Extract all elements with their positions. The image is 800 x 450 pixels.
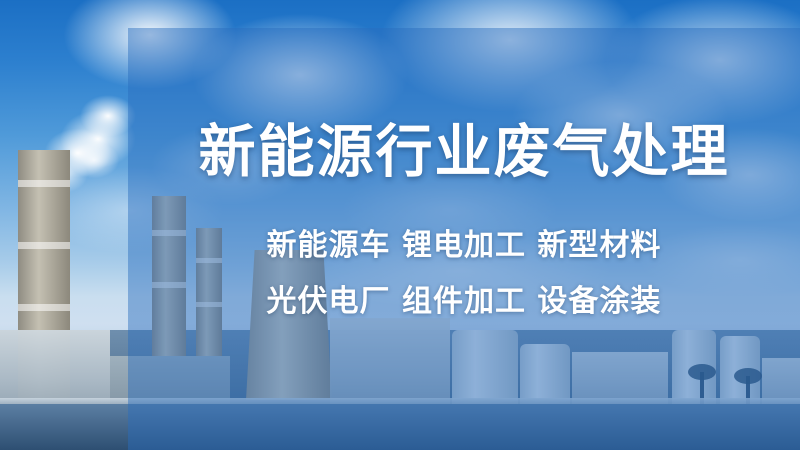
subline-2: 光伏电厂 组件加工 设备涂装 — [267, 287, 662, 317]
headline: 新能源行业废气处理 — [199, 124, 730, 181]
banner: 新能源行业废气处理 新能源车 锂电加工 新型材料 光伏电厂 组件加工 设备涂装 — [0, 0, 800, 450]
text-block: 新能源行业废气处理 新能源车 锂电加工 新型材料 光伏电厂 组件加工 设备涂装 — [128, 28, 800, 450]
subline-1: 新能源车 锂电加工 新型材料 — [267, 231, 662, 261]
